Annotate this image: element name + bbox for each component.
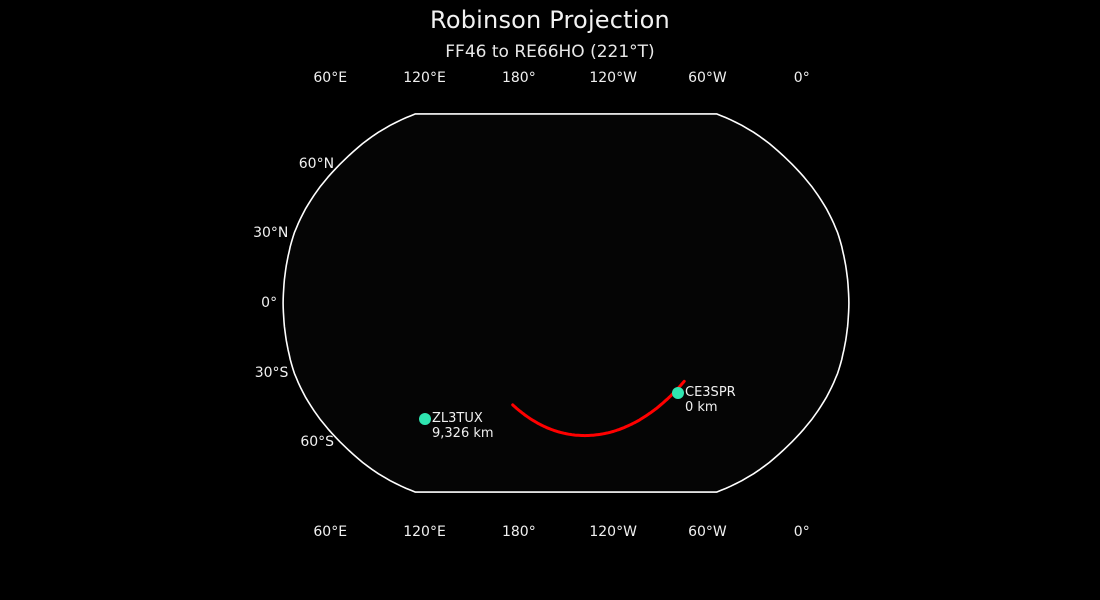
lon-label-2: 180° [502, 70, 536, 86]
station-marker-ce3spr[interactable] [672, 387, 684, 399]
lon-label-0: 60°E [313, 70, 347, 86]
lon-label-3: 120°W [589, 524, 637, 540]
station-distance: 0 km [685, 400, 736, 415]
lat-label-1: 30°N [232, 225, 288, 241]
lon-label-3: 120°W [589, 70, 637, 86]
lon-label-5: 0° [794, 524, 810, 540]
lon-label-4: 60°W [688, 524, 727, 540]
lat-label-3: 30°S [232, 365, 288, 381]
lat-label-2: 0° [221, 295, 277, 311]
lon-label-5: 0° [794, 70, 810, 86]
station-callsign: ZL3TUX [432, 411, 494, 426]
lat-label-4: 60°S [278, 434, 334, 450]
robinson-map-canvas [0, 0, 1100, 600]
lon-label-4: 60°W [688, 70, 727, 86]
station-label-ce3spr: CE3SPR0 km [685, 385, 736, 415]
lon-label-1: 120°E [403, 70, 446, 86]
map-figure: Robinson Projection FF46 to RE66HO (221°… [0, 0, 1100, 600]
lat-label-0: 60°N [278, 156, 334, 172]
lon-label-0: 60°E [313, 524, 347, 540]
lon-label-2: 180° [502, 524, 536, 540]
station-distance: 9,326 km [432, 426, 494, 441]
lon-label-1: 120°E [403, 524, 446, 540]
station-callsign: CE3SPR [685, 385, 736, 400]
station-marker-zl3tux[interactable] [419, 413, 431, 425]
station-label-zl3tux: ZL3TUX9,326 km [432, 411, 494, 441]
map-outline [283, 114, 849, 492]
